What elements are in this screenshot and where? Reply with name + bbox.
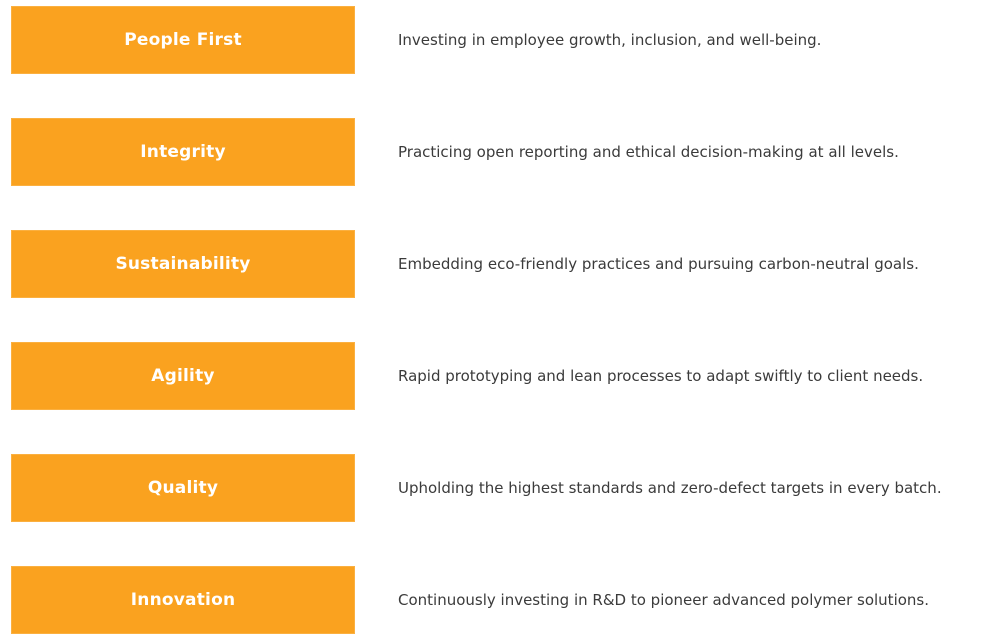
value-chip-innovation[interactable]: Innovation <box>11 566 355 634</box>
value-description-text: Upholding the highest standards and zero… <box>398 478 942 498</box>
value-chip-quality[interactable]: Quality <box>11 454 355 522</box>
value-chip-agility[interactable]: Agility <box>11 342 355 410</box>
value-description-text: Embedding eco-friendly practices and pur… <box>398 254 919 274</box>
value-chip-label: Innovation <box>131 591 236 610</box>
value-description-agility: Rapid prototyping and lean processes to … <box>398 342 994 410</box>
value-chip-label: Integrity <box>140 143 225 162</box>
value-description-text: Practicing open reporting and ethical de… <box>398 142 899 162</box>
value-description-people-first: Investing in employee growth, inclusion,… <box>398 6 994 74</box>
value-chip-sustainability[interactable]: Sustainability <box>11 230 355 298</box>
value-chip-label: Quality <box>148 479 218 498</box>
value-chip-label: People First <box>124 31 242 50</box>
value-description-innovation: Continuously investing in R&D to pioneer… <box>398 566 994 634</box>
value-chip-integrity[interactable]: Integrity <box>11 118 355 186</box>
value-chip-people-first[interactable]: People First <box>11 6 355 74</box>
value-description-quality: Upholding the highest standards and zero… <box>398 454 994 522</box>
value-description-sustainability: Embedding eco-friendly practices and pur… <box>398 230 994 298</box>
core-values-diagram: People First Investing in employee growt… <box>0 0 1000 642</box>
value-row: Quality Upholding the highest standards … <box>0 454 1000 522</box>
value-description-text: Investing in employee growth, inclusion,… <box>398 30 821 50</box>
value-row: Integrity Practicing open reporting and … <box>0 118 1000 186</box>
value-row: Agility Rapid prototyping and lean proce… <box>0 342 1000 410</box>
value-description-text: Continuously investing in R&D to pioneer… <box>398 590 929 610</box>
value-description-integrity: Practicing open reporting and ethical de… <box>398 118 994 186</box>
value-description-text: Rapid prototyping and lean processes to … <box>398 366 923 386</box>
value-chip-label: Agility <box>151 367 214 386</box>
value-row: People First Investing in employee growt… <box>0 6 1000 74</box>
value-row: Sustainability Embedding eco-friendly pr… <box>0 230 1000 298</box>
value-chip-label: Sustainability <box>115 255 250 274</box>
value-row: Innovation Continuously investing in R&D… <box>0 566 1000 634</box>
